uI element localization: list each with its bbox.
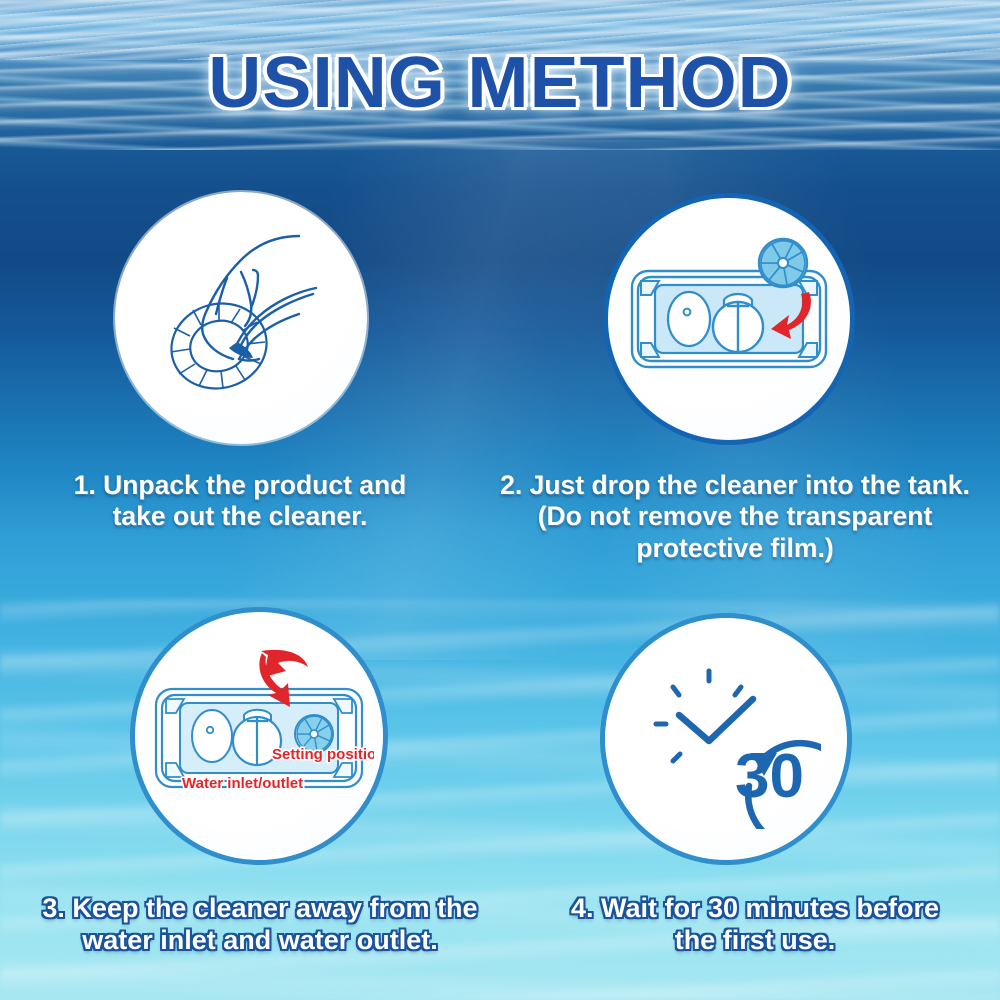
water-inlet-outlet-label-text: Water inlet/outlet: [182, 775, 303, 792]
step-4-caption-line-1: 4. Wait for 30 minutes before: [525, 893, 985, 925]
using-method-infographic: USING METHOD: [0, 0, 1000, 1000]
step-2-caption-line-3: protective film.): [500, 533, 970, 564]
setting-position-label-text: Setting position: [272, 746, 374, 763]
step-1-caption: 1. Unpack the product and take out the c…: [40, 470, 440, 533]
step-1-icon-circle: [115, 192, 367, 444]
step-4-caption-line-2: the first use.: [525, 925, 985, 957]
timer-value-text: 30: [735, 742, 804, 811]
step-3-caption-line-1: 3. Keep the cleaner away from the: [10, 893, 510, 925]
step-2-caption-line-2: (Do not remove the transparent: [500, 501, 970, 532]
step-4-icon-circle: 30: [605, 618, 847, 860]
step-3-caption: 3. Keep the cleaner away from the water …: [10, 893, 510, 957]
hand-holding-tablet-icon: [141, 218, 341, 418]
step-2-caption: 2. Just drop the cleaner into the tank. …: [500, 470, 970, 564]
step-2-caption-line-1: 2. Just drop the cleaner into the tank.: [500, 470, 970, 501]
page-title: USING METHOD: [0, 42, 1000, 124]
step-2-icon-circle: [608, 198, 850, 440]
hot-tub-setting-position-icon: Setting position Water inlet/outlet: [144, 631, 374, 841]
step-4-caption: 4. Wait for 30 minutes before the first …: [525, 893, 985, 957]
step-1-caption-line-2: take out the cleaner.: [40, 501, 440, 532]
step-1-caption-line-1: 1. Unpack the product and: [40, 470, 440, 501]
hot-tub-drop-tablet-icon: [619, 219, 839, 419]
step-3-caption-line-2: water inlet and water outlet.: [10, 925, 510, 957]
step-3-icon-circle: Setting position Water inlet/outlet: [135, 612, 383, 860]
timer-30-minutes-icon: 30: [631, 649, 821, 829]
